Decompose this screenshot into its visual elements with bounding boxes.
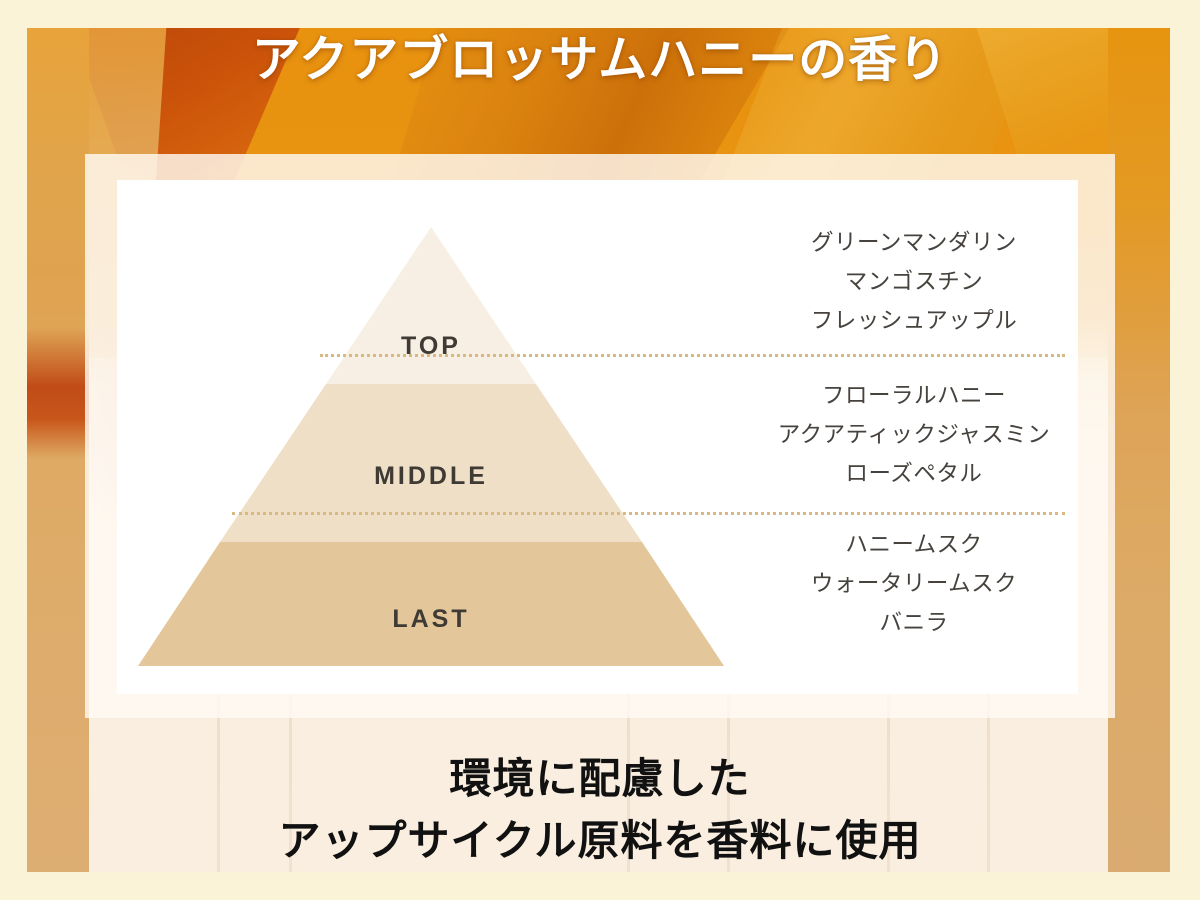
note-item: グリーンマンダリン [749, 224, 1079, 263]
fragrance-pyramid: TOP MIDDLE LAST [138, 210, 724, 666]
footer-line-1: 環境に配慮した [0, 748, 1200, 810]
note-item: アクアティックジャスミン [749, 416, 1079, 455]
page-title: アクアブロッサムハニーの香り [0, 20, 1200, 91]
notes-list-last: ハニームスク ウォータリームスク バニラ [749, 526, 1079, 643]
pyramid-label-middle: MIDDLE [374, 462, 488, 491]
right-amber-column [1108, 28, 1170, 872]
note-item: バニラ [749, 604, 1079, 643]
fragrance-card: TOP MIDDLE LAST グリーンマンダリン マンゴスチン フレッシュアッ… [117, 180, 1078, 694]
left-amber-column [27, 28, 89, 872]
footer-message: 環境に配慮した アップサイクル原料を香料に使用 [0, 748, 1200, 872]
left-column-highlight [27, 328, 89, 458]
divider-top-middle [320, 354, 1065, 357]
note-item: ハニームスク [749, 526, 1079, 565]
pyramid-shape [138, 210, 724, 666]
pyramid-label-last: LAST [392, 605, 469, 634]
note-item: ウォータリームスク [749, 565, 1079, 604]
notes-list-middle: フローラルハニー アクアティックジャスミン ローズペタル [749, 377, 1079, 494]
note-item: フレッシュアップル [749, 302, 1079, 341]
note-item: ローズペタル [749, 455, 1079, 494]
notes-list-top: グリーンマンダリン マンゴスチン フレッシュアップル [749, 224, 1079, 341]
pyramid-band-last [138, 542, 724, 666]
poster-canvas: アクアブロッサムハニーの香り TOP MIDDLE LAST グリーンマンダリン… [0, 0, 1200, 900]
divider-middle-last [232, 512, 1065, 515]
footer-line-2: アップサイクル原料を香料に使用 [0, 810, 1200, 872]
note-item: マンゴスチン [749, 263, 1079, 302]
note-item: フローラルハニー [749, 377, 1079, 416]
